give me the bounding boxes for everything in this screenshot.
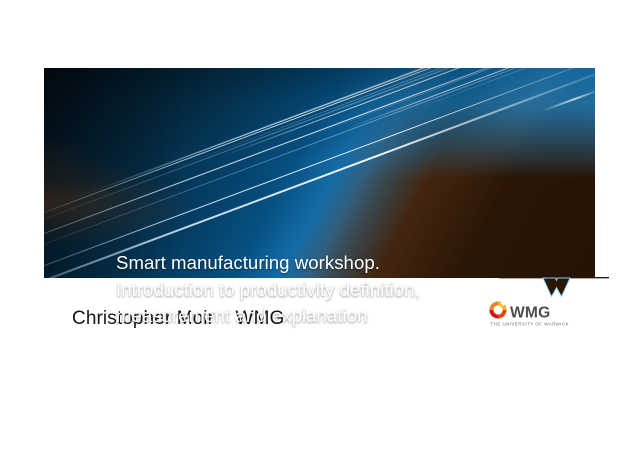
banner-clip: [44, 68, 595, 278]
presentation-title-slide: Smart manufacturing workshop. Introducti…: [0, 0, 640, 452]
title-banner-image: Smart manufacturing workshop. Introducti…: [44, 68, 595, 278]
slide-title: Smart manufacturing workshop. Introducti…: [116, 250, 546, 330]
title-line-2: Introduction to productivity definition,: [116, 277, 546, 304]
title-line-1: Smart manufacturing workshop.: [116, 250, 546, 277]
title-line-3: measurement and explanation: [116, 303, 546, 330]
banner-vignette: [44, 68, 595, 278]
